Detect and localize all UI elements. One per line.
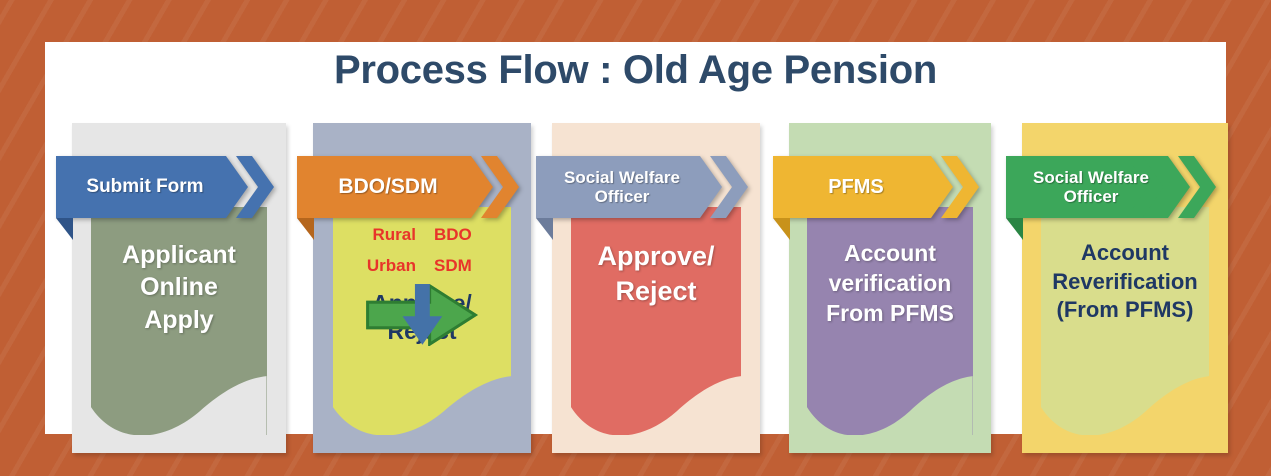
banner-fold-tail [536,218,553,240]
banner-fold-tail [773,218,790,240]
route-from-label: Rural [360,225,416,245]
panel-text: ApplicantOnlineApply [91,239,266,337]
panel-text: AccountverificationFrom PFMS [807,239,973,329]
process-step-card-pfms[interactable]: AccountverificationFrom PFMSPFMS [789,123,991,453]
banner-fold-tail [56,218,73,240]
panel-text: AccountReverification(From PFMS) [1041,239,1210,325]
step-banner-submit-form[interactable]: Submit Form [56,156,294,218]
banner-shape-icon [56,156,294,218]
page-title: Process Flow : Old Age Pension [45,48,1226,93]
step-banner-bdo-sdm[interactable]: BDO/SDM [297,156,539,218]
step-panel-social-welfare-officer-reverify: AccountReverification(From PFMS) [1041,207,1210,435]
panel-wave-edge-icon [333,374,512,435]
process-step-card-submit-form[interactable]: ApplicantOnlineApplySubmit Form [72,123,286,453]
route-from-label: Urban [360,256,416,276]
process-step-card-social-welfare-officer-reverify[interactable]: AccountReverification(From PFMS)Social W… [1022,123,1228,453]
step-panel-bdo-sdm: RuralBDOUrbanSDMApprove/Reject [333,207,512,435]
step-banner-pfms[interactable]: PFMS [773,156,999,218]
banner-shape-icon [1006,156,1236,218]
step-banner-social-welfare-officer-approve[interactable]: Social WelfareOfficer [536,156,768,218]
panel-wave-edge-icon [1041,374,1210,435]
panel-wave-edge-icon [571,374,742,435]
route-row: UrbanSDM [333,256,512,276]
panel-text: Approve/Reject [571,239,742,309]
routing-rules: RuralBDOUrbanSDMApprove/Reject [333,225,512,345]
step-panel-submit-form: ApplicantOnlineApply [91,207,266,435]
route-to-label: BDO [434,225,484,245]
route-row: RuralBDO [333,225,512,245]
process-step-card-social-welfare-officer-approve[interactable]: Approve/RejectSocial WelfareOfficer [552,123,760,453]
banner-fold-tail [297,218,314,240]
process-step-card-bdo-sdm[interactable]: RuralBDOUrbanSDMApprove/RejectBDO/SDM [313,123,531,453]
banner-fold-tail [1006,218,1023,240]
step-panel-social-welfare-officer-approve: Approve/Reject [571,207,742,435]
banner-shape-icon [297,156,539,218]
step-banner-social-welfare-officer-reverify[interactable]: Social WelfareOfficer [1006,156,1236,218]
banner-shape-icon [773,156,999,218]
panel-wave-edge-icon [807,374,973,435]
step-panel-pfms: AccountverificationFrom PFMS [807,207,973,435]
route-to-label: SDM [434,256,484,276]
slide-canvas: Process Flow : Old Age Pension Applicant… [45,42,1226,434]
panel-wave-edge-icon [91,374,266,435]
banner-shape-icon [536,156,768,218]
